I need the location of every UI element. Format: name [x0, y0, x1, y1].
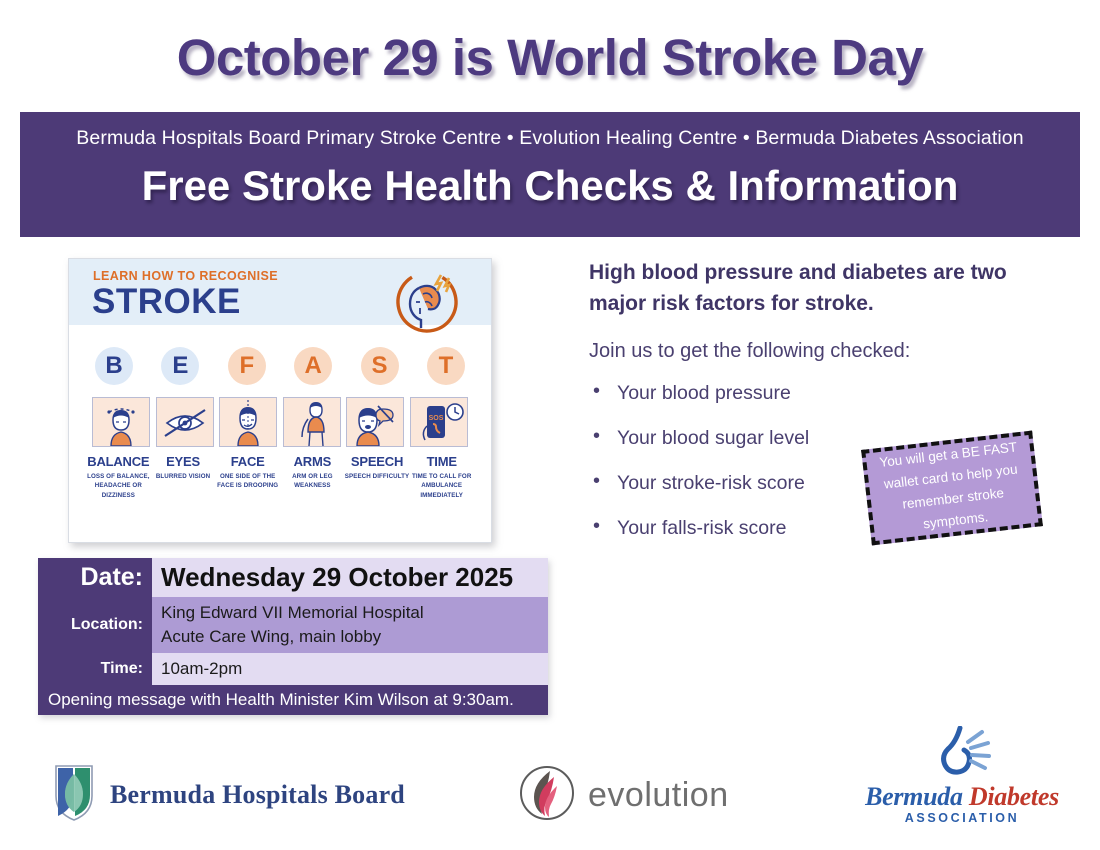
- details-value-date: Wednesday 29 October 2025: [152, 558, 548, 597]
- caption-title: ARMS: [280, 454, 345, 469]
- risk-factors-heading: High blood pressure and diabetes are two…: [589, 258, 1039, 320]
- befast-captions-row: BALANCE LOSS OF BALANCE, HEADACHE OR DIZ…: [69, 447, 491, 500]
- sos-phone-clock-icon: SOS: [410, 397, 468, 447]
- bda-word-bermuda: Bermuda: [865, 782, 963, 811]
- befast-caption-speech: SPEECH SPEECH DIFFICULTY: [345, 454, 410, 500]
- caption-title: EYES: [151, 454, 216, 469]
- caption-sub: TIME TO CALL FOR AMBULANCE IMMEDIATELY: [409, 472, 474, 500]
- list-item: Your blood sugar level: [589, 427, 809, 450]
- bda-word-diabetes: Diabetes: [969, 782, 1059, 811]
- table-row: Opening message with Health Minister Kim…: [38, 685, 548, 715]
- list-item: Your blood pressure: [589, 382, 809, 405]
- banner-partners-line: Bermuda Hospitals Board Primary Stroke C…: [20, 127, 1080, 150]
- dizzy-head-icon: [92, 397, 150, 447]
- befast-caption-arms: ARMS ARM OR LEG WEAKNESS: [280, 454, 345, 500]
- caption-title: SPEECH: [345, 454, 410, 469]
- befast-caption-face: FACE ONE SIDE OF THE FACE IS DROOPING: [215, 454, 280, 500]
- wallet-card-callout-text: You will get a BE FAST wallet card to he…: [872, 436, 1033, 540]
- crossed-out-eye-icon: [156, 397, 214, 447]
- bda-word-association: ASSOCIATION: [862, 811, 1062, 825]
- befast-letter-e: E: [161, 347, 199, 385]
- befast-letter-a: A: [294, 347, 332, 385]
- bermuda-hospitals-board-logo: Bermuda Hospitals Board: [52, 762, 405, 827]
- join-us-line: Join us to get the following checked:: [589, 340, 910, 363]
- svg-text:SOS: SOS: [429, 415, 444, 422]
- befast-letter-t: T: [427, 347, 465, 385]
- caption-sub: ONE SIDE OF THE FACE IS DROOPING: [215, 472, 280, 491]
- table-row: Date: Wednesday 29 October 2025: [38, 558, 548, 597]
- brain-stroke-icon: [389, 262, 465, 338]
- flame-circle-icon: [516, 762, 578, 829]
- table-row: Time: 10am-2pm: [38, 653, 548, 685]
- befast-letter-b: B: [95, 347, 133, 385]
- speech-difficulty-icon: [346, 397, 404, 447]
- shield-leaf-icon: [52, 762, 96, 827]
- details-value-time: 10am-2pm: [152, 653, 548, 685]
- list-item: Your stroke-risk score: [589, 472, 809, 495]
- caption-sub: LOSS OF BALANCE, HEADACHE OR DIZZINESS: [86, 472, 151, 500]
- droplet-rays-icon: [922, 763, 1002, 780]
- bhb-wordmark: Bermuda Hospitals Board: [110, 780, 405, 810]
- evolution-wordmark: evolution: [588, 776, 729, 815]
- befast-eyebrow: LEARN HOW TO RECOGNISE: [93, 269, 278, 283]
- opening-message-note: Opening message with Health Minister Kim…: [38, 685, 548, 715]
- caption-title: FACE: [215, 454, 280, 469]
- evolution-logo: evolution: [516, 762, 729, 829]
- befast-caption-balance: BALANCE LOSS OF BALANCE, HEADACHE OR DIZ…: [86, 454, 151, 500]
- checks-list: Your blood pressure Your blood sugar lev…: [589, 382, 809, 562]
- weak-arm-person-icon: [283, 397, 341, 447]
- banner-headline: Free Stroke Health Checks & Information: [20, 162, 1080, 210]
- caption-title: BALANCE: [86, 454, 151, 469]
- page-title: October 29 is World Stroke Day: [0, 28, 1100, 87]
- drooping-face-icon: [219, 397, 277, 447]
- details-label-date: Date:: [38, 558, 152, 597]
- details-value-location: King Edward VII Memorial Hospital Acute …: [152, 597, 548, 653]
- event-details-table: Date: Wednesday 29 October 2025 Location…: [38, 558, 548, 715]
- location-line-2: Acute Care Wing, main lobby: [161, 625, 539, 649]
- list-item: Your falls-risk score: [589, 517, 809, 540]
- event-banner: Bermuda Hospitals Board Primary Stroke C…: [20, 112, 1080, 237]
- befast-illustration-row: SOS: [69, 385, 491, 447]
- bermuda-diabetes-association-logo: Bermuda Diabetes ASSOCIATION: [862, 726, 1062, 825]
- befast-letter-f: F: [228, 347, 266, 385]
- location-line-1: King Edward VII Memorial Hospital: [161, 601, 539, 625]
- caption-sub: BLURRED VISION: [151, 472, 216, 481]
- wallet-card-callout: You will get a BE FAST wallet card to he…: [861, 431, 1043, 546]
- details-label-location: Location:: [38, 597, 152, 653]
- caption-sub: ARM OR LEG WEAKNESS: [280, 472, 345, 491]
- befast-card-header: LEARN HOW TO RECOGNISE STROKE: [69, 259, 491, 325]
- caption-title: TIME: [409, 454, 474, 469]
- details-label-time: Time:: [38, 653, 152, 685]
- table-row: Location: King Edward VII Memorial Hospi…: [38, 597, 548, 653]
- befast-letter-s: S: [361, 347, 399, 385]
- caption-sub: SPEECH DIFFICULTY: [345, 472, 410, 481]
- befast-title: STROKE: [92, 282, 241, 322]
- bda-wordmark: Bermuda Diabetes: [862, 782, 1062, 812]
- befast-caption-eyes: EYES BLURRED VISION: [151, 454, 216, 500]
- befast-infographic-card: LEARN HOW TO RECOGNISE STROKE B E F A S …: [68, 258, 492, 543]
- befast-caption-time: TIME TIME TO CALL FOR AMBULANCE IMMEDIAT…: [409, 454, 474, 500]
